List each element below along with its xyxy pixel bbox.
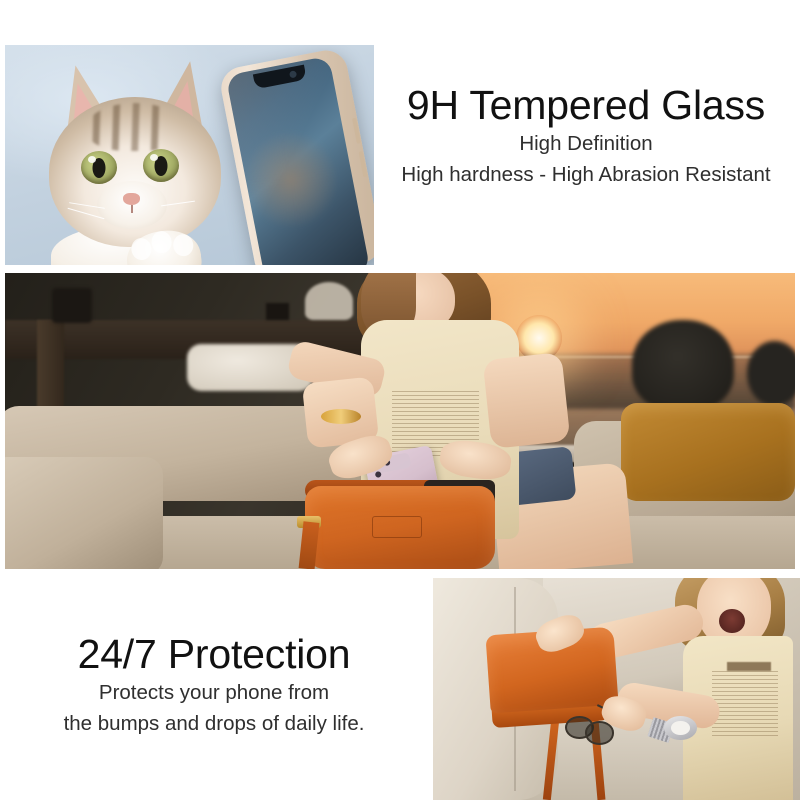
brown-throw-pillow: [621, 403, 795, 501]
cat-eye-highlight-right: [150, 154, 158, 161]
cat-forehead-stripes: [87, 103, 183, 151]
protection-text-block: 24/7 Protection Protects your phone from…: [14, 632, 414, 739]
cat-toe: [130, 237, 153, 262]
tree-silhouette-secondary: [747, 341, 795, 405]
dark-vase: [52, 288, 92, 324]
tree-silhouette: [632, 320, 734, 411]
handbag-label-patch: [372, 516, 421, 539]
snatch-wristwatch: [664, 716, 697, 740]
kitten-illustration: [35, 59, 265, 265]
gold-bracelet: [321, 409, 361, 424]
cat-toe: [150, 230, 173, 255]
image-living-room: [5, 273, 795, 569]
table-lamp: [305, 282, 352, 320]
tempered-glass-subline-2: High hardness - High Abrasion Resistant: [386, 159, 786, 190]
poster-canvas: 9H Tempered Glass High Definition High h…: [0, 0, 800, 800]
cat-toe: [172, 233, 195, 258]
cat-eye-right: [143, 149, 179, 182]
cat-nose: [123, 193, 140, 205]
cat-eye-left: [81, 151, 117, 184]
tempered-glass-headline: 9H Tempered Glass: [386, 83, 786, 128]
protection-subline-2: the bumps and drops of daily life.: [14, 708, 414, 739]
tempered-glass-text-block: 9H Tempered Glass High Definition High h…: [386, 83, 786, 190]
cat-mouth: [131, 205, 133, 213]
lamp-stem: [266, 303, 290, 321]
image-cat-phone: [5, 45, 374, 265]
tempered-glass-subline-1: High Definition: [386, 128, 786, 159]
woman-right-arm: [482, 352, 570, 449]
cat-eye-highlight-left: [88, 156, 96, 163]
protection-subline-1: Protects your phone from: [14, 677, 414, 708]
snatch-tank-brand-text: [727, 662, 771, 671]
sofa-armrest: [5, 457, 163, 569]
snatch-tank-print: [712, 671, 778, 738]
image-bag-snatch: [433, 578, 800, 800]
sunglasses-lens-right: [585, 721, 614, 744]
protection-headline: 24/7 Protection: [14, 632, 414, 677]
